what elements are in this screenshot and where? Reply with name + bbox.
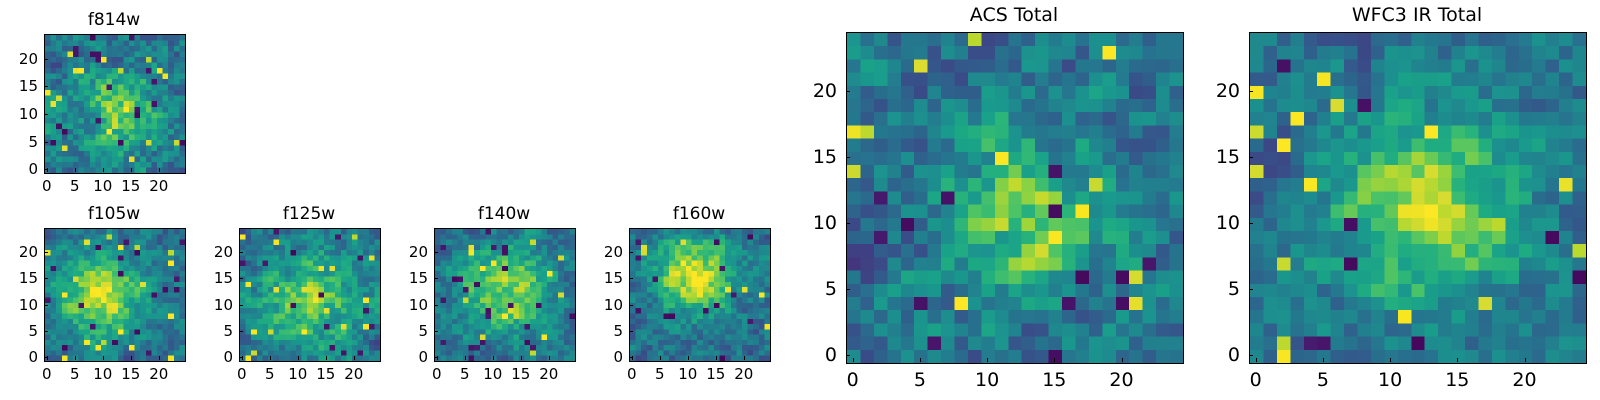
plot-area-wfc3_ir_total[interactable]: [1249, 32, 1587, 364]
ytick-mark-f125w-5: [239, 331, 243, 332]
xtick-mark-f814w-10: [103, 168, 104, 172]
ytick-label-wfc3_ir_total-5: 5: [1228, 278, 1240, 300]
ytick-label-acs_total-5: 5: [825, 278, 837, 300]
ytick-mark-wfc3_ir_total-15: [1249, 157, 1253, 158]
ytick-label-f125w-15: 15: [214, 269, 233, 287]
xtick-label-f140w-15: 15: [511, 365, 530, 383]
ytick-label-acs_total-15: 15: [813, 146, 837, 168]
ytick-label-f140w-15: 15: [409, 269, 428, 287]
ytick-label-wfc3_ir_total-0: 0: [1228, 344, 1240, 366]
panel-f140w: f140w0510152005101520: [434, 228, 574, 360]
ytick-mark-f814w-10: [44, 114, 48, 115]
xtick-mark-acs_total-15: [1054, 358, 1055, 362]
panel-title-f140w: f140w: [434, 204, 574, 224]
ytick-label-wfc3_ir_total-20: 20: [1216, 80, 1240, 102]
ytick-mark-acs_total-15: [846, 157, 850, 158]
ytick-label-f160w-5: 5: [613, 322, 623, 340]
xtick-label-acs_total-20: 20: [1109, 369, 1133, 391]
ytick-mark-f105w-5: [44, 331, 48, 332]
xtick-mark-wfc3_ir_total-10: [1390, 358, 1391, 362]
ytick-label-f140w-10: 10: [409, 296, 428, 314]
xtick-label-f125w-5: 5: [265, 365, 275, 383]
xtick-mark-f140w-20: [549, 356, 550, 360]
panel-f160w: f160w0510152005101520: [629, 228, 769, 360]
xtick-mark-f125w-0: [242, 356, 243, 360]
ytick-label-f105w-0: 0: [28, 348, 38, 366]
xtick-mark-f140w-0: [437, 356, 438, 360]
ytick-mark-wfc3_ir_total-10: [1249, 223, 1253, 224]
ytick-mark-f160w-20: [629, 252, 633, 253]
heatmap-image-f105w: [45, 229, 185, 361]
xtick-mark-f160w-15: [716, 356, 717, 360]
ytick-mark-f140w-15: [434, 278, 438, 279]
plot-area-f125w[interactable]: [239, 228, 381, 362]
xtick-label-f105w-20: 20: [149, 365, 168, 383]
xtick-mark-f125w-5: [270, 356, 271, 360]
xtick-label-f105w-5: 5: [70, 365, 80, 383]
plot-area-f160w[interactable]: [629, 228, 771, 362]
heatmap-image-f125w: [240, 229, 380, 361]
xtick-mark-wfc3_ir_total-15: [1457, 358, 1458, 362]
ytick-mark-f814w-15: [44, 86, 48, 87]
xtick-mark-f814w-5: [75, 168, 76, 172]
ytick-mark-f105w-20: [44, 252, 48, 253]
xtick-label-f125w-15: 15: [316, 365, 335, 383]
xtick-mark-f105w-15: [131, 356, 132, 360]
xtick-mark-acs_total-0: [853, 358, 854, 362]
ytick-label-wfc3_ir_total-10: 10: [1216, 212, 1240, 234]
ytick-label-f105w-10: 10: [19, 296, 38, 314]
xtick-mark-f160w-5: [660, 356, 661, 360]
xtick-label-acs_total-10: 10: [975, 369, 999, 391]
xtick-label-wfc3_ir_total-5: 5: [1317, 369, 1329, 391]
xtick-mark-f814w-20: [159, 168, 160, 172]
panel-acs_total: ACS Total0510152005101520: [846, 32, 1182, 362]
ytick-mark-f814w-5: [44, 142, 48, 143]
plot-area-f105w[interactable]: [44, 228, 186, 362]
xtick-mark-f814w-15: [131, 168, 132, 172]
ytick-label-f125w-5: 5: [223, 322, 233, 340]
panel-f814w: f814w0510152005101520: [44, 34, 184, 172]
ytick-label-f814w-10: 10: [19, 105, 38, 123]
ytick-mark-f160w-15: [629, 278, 633, 279]
xtick-label-acs_total-5: 5: [914, 369, 926, 391]
plot-area-f140w[interactable]: [434, 228, 576, 362]
xtick-mark-f160w-10: [688, 356, 689, 360]
ytick-label-f105w-15: 15: [19, 269, 38, 287]
ytick-mark-wfc3_ir_total-20: [1249, 91, 1253, 92]
xtick-label-f125w-0: 0: [237, 365, 247, 383]
panel-f105w: f105w0510152005101520: [44, 228, 184, 360]
panel-wfc3_ir_total: WFC3 IR Total0510152005101520: [1249, 32, 1585, 362]
xtick-label-wfc3_ir_total-10: 10: [1378, 369, 1402, 391]
xtick-label-f125w-10: 10: [288, 365, 307, 383]
ytick-mark-f814w-20: [44, 59, 48, 60]
xtick-label-f160w-0: 0: [627, 365, 637, 383]
xtick-label-f105w-0: 0: [42, 365, 52, 383]
heatmap-image-acs_total: [847, 33, 1183, 363]
ytick-mark-wfc3_ir_total-0: [1249, 355, 1253, 356]
xtick-mark-wfc3_ir_total-0: [1256, 358, 1257, 362]
xtick-label-wfc3_ir_total-20: 20: [1512, 369, 1536, 391]
ytick-label-acs_total-0: 0: [825, 344, 837, 366]
xtick-mark-f160w-0: [632, 356, 633, 360]
xtick-mark-wfc3_ir_total-20: [1525, 358, 1526, 362]
ytick-label-f160w-20: 20: [604, 243, 623, 261]
panel-f125w: f125w0510152005101520: [239, 228, 379, 360]
ytick-mark-wfc3_ir_total-5: [1249, 289, 1253, 290]
xtick-label-f814w-0: 0: [42, 177, 52, 195]
panel-title-f105w: f105w: [44, 204, 184, 224]
xtick-mark-f105w-5: [75, 356, 76, 360]
ytick-mark-f125w-20: [239, 252, 243, 253]
xtick-label-f140w-0: 0: [432, 365, 442, 383]
xtick-mark-f125w-10: [298, 356, 299, 360]
xtick-label-f160w-10: 10: [678, 365, 697, 383]
ytick-mark-f125w-15: [239, 278, 243, 279]
ytick-label-f160w-0: 0: [613, 348, 623, 366]
xtick-mark-wfc3_ir_total-5: [1323, 358, 1324, 362]
ytick-mark-f160w-5: [629, 331, 633, 332]
xtick-mark-acs_total-5: [920, 358, 921, 362]
xtick-label-f140w-5: 5: [460, 365, 470, 383]
ytick-label-acs_total-20: 20: [813, 80, 837, 102]
ytick-label-f105w-20: 20: [19, 243, 38, 261]
heatmap-image-f140w: [435, 229, 575, 361]
ytick-mark-acs_total-5: [846, 289, 850, 290]
panel-title-wfc3_ir_total: WFC3 IR Total: [1249, 4, 1585, 26]
ytick-label-f125w-20: 20: [214, 243, 233, 261]
xtick-label-f140w-10: 10: [483, 365, 502, 383]
xtick-mark-f105w-20: [159, 356, 160, 360]
xtick-mark-acs_total-10: [987, 358, 988, 362]
ytick-label-wfc3_ir_total-15: 15: [1216, 146, 1240, 168]
ytick-label-f160w-15: 15: [604, 269, 623, 287]
heatmap-image-f814w: [45, 35, 185, 173]
plot-area-f814w[interactable]: [44, 34, 186, 174]
xtick-label-f125w-20: 20: [344, 365, 363, 383]
xtick-mark-f125w-15: [326, 356, 327, 360]
ytick-mark-f160w-10: [629, 305, 633, 306]
xtick-mark-f814w-0: [47, 168, 48, 172]
panel-title-f160w: f160w: [629, 204, 769, 224]
xtick-label-f160w-5: 5: [655, 365, 665, 383]
ytick-label-f814w-0: 0: [28, 160, 38, 178]
xtick-label-f160w-20: 20: [734, 365, 753, 383]
xtick-label-f140w-20: 20: [539, 365, 558, 383]
ytick-mark-f140w-10: [434, 305, 438, 306]
xtick-label-f814w-5: 5: [70, 177, 80, 195]
ytick-label-f125w-10: 10: [214, 296, 233, 314]
ytick-label-f814w-20: 20: [19, 50, 38, 68]
heatmap-image-f160w: [630, 229, 770, 361]
xtick-label-wfc3_ir_total-15: 15: [1445, 369, 1469, 391]
xtick-mark-f140w-5: [465, 356, 466, 360]
xtick-mark-f140w-15: [521, 356, 522, 360]
xtick-label-acs_total-0: 0: [847, 369, 859, 391]
plot-area-acs_total[interactable]: [846, 32, 1184, 364]
xtick-mark-f105w-0: [47, 356, 48, 360]
xtick-label-acs_total-15: 15: [1042, 369, 1066, 391]
ytick-mark-f140w-5: [434, 331, 438, 332]
ytick-mark-f140w-20: [434, 252, 438, 253]
ytick-label-f160w-10: 10: [604, 296, 623, 314]
xtick-mark-f105w-10: [103, 356, 104, 360]
xtick-label-f814w-15: 15: [121, 177, 140, 195]
heatmap-image-wfc3_ir_total: [1250, 33, 1586, 363]
panel-title-acs_total: ACS Total: [846, 4, 1182, 26]
ytick-mark-f105w-10: [44, 305, 48, 306]
ytick-mark-f125w-10: [239, 305, 243, 306]
ytick-label-f814w-5: 5: [28, 133, 38, 151]
xtick-mark-acs_total-20: [1122, 358, 1123, 362]
xtick-label-wfc3_ir_total-0: 0: [1250, 369, 1262, 391]
xtick-mark-f140w-10: [493, 356, 494, 360]
xtick-label-f105w-10: 10: [93, 365, 112, 383]
ytick-mark-acs_total-20: [846, 91, 850, 92]
ytick-mark-acs_total-0: [846, 355, 850, 356]
ytick-mark-acs_total-10: [846, 223, 850, 224]
xtick-label-f814w-20: 20: [149, 177, 168, 195]
ytick-mark-f105w-15: [44, 278, 48, 279]
xtick-label-f105w-15: 15: [121, 365, 140, 383]
xtick-label-f160w-15: 15: [706, 365, 725, 383]
ytick-label-f125w-0: 0: [223, 348, 233, 366]
xtick-label-f814w-10: 10: [93, 177, 112, 195]
ytick-label-f140w-0: 0: [418, 348, 428, 366]
ytick-label-f140w-5: 5: [418, 322, 428, 340]
panel-title-f814w: f814w: [44, 10, 184, 30]
ytick-label-f814w-15: 15: [19, 77, 38, 95]
xtick-mark-f125w-20: [354, 356, 355, 360]
panel-title-f125w: f125w: [239, 204, 379, 224]
ytick-label-acs_total-10: 10: [813, 212, 837, 234]
ytick-label-f140w-20: 20: [409, 243, 428, 261]
ytick-label-f105w-5: 5: [28, 322, 38, 340]
xtick-mark-f160w-20: [744, 356, 745, 360]
